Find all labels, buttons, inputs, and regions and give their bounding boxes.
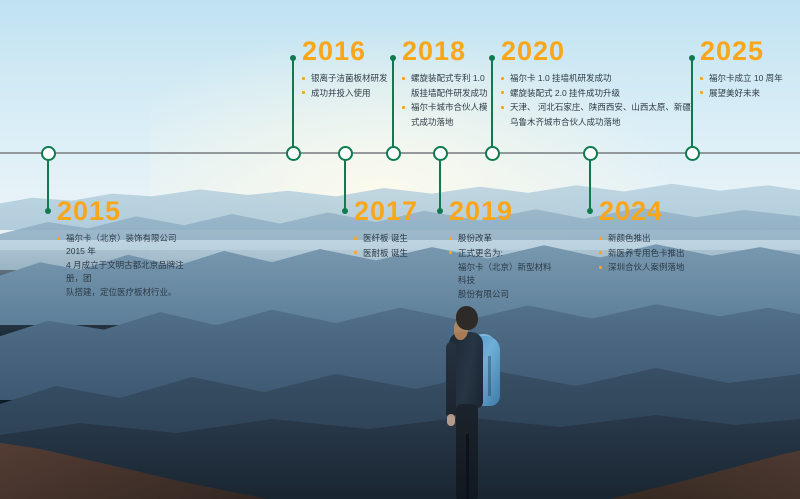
event-2019[interactable]: 2019 股份改革 正式更名为: 福尔卡（北京）新型材料科技 股份有限公司: [449, 198, 559, 303]
stem-2015: [47, 160, 49, 212]
node-2018[interactable]: [386, 146, 401, 161]
event-2017[interactable]: 2017 医纤板 诞生 医耐板 诞生: [354, 198, 434, 261]
event-2018[interactable]: 2018 螺旋装配式专利 1.0 版挂墙配件研发成功 福尔卡城市合伙人模 式成功…: [402, 38, 494, 130]
stem-2019: [439, 160, 441, 212]
stem-dot-2018: [390, 55, 396, 61]
bullet-cont: 福尔卡（北京）新型材料科技: [449, 261, 559, 286]
bullet-cont: 成功并投入使用: [302, 87, 390, 100]
bullet-item: 螺旋装配式 2.0 挂件成功升级: [501, 87, 691, 100]
stem-dot-2016: [290, 55, 296, 61]
event-year-2025: 2025: [700, 38, 792, 65]
node-2019[interactable]: [433, 146, 448, 161]
bullet-item: 展望美好未来: [700, 87, 792, 100]
event-year-2017: 2017: [354, 198, 434, 225]
bullet-cont: 队搭建，定位医疗板材行业。: [57, 286, 197, 299]
bullet-cont: 4 月成立于文明古都北京品牌注册，团: [57, 259, 197, 284]
event-bullets-2019: 股份改革 正式更名为: 福尔卡（北京）新型材料科技 股份有限公司: [449, 232, 559, 301]
stem-2017: [344, 160, 346, 212]
event-bullets-2016: 银离子洁菌板材研发 成功并投入使用: [302, 72, 390, 99]
bullet-item: 螺旋装配式专利 1.0: [402, 72, 494, 85]
event-bullets-2025: 福尔卡成立 10 周年 展望美好未来: [700, 72, 792, 99]
bullet-cont: 式成功落地: [402, 116, 494, 129]
hiker-leg-gap: [466, 434, 469, 499]
stem-dot-2019: [437, 208, 443, 214]
stem-2025: [691, 58, 693, 148]
backpack-strap-secondary: [488, 356, 491, 396]
event-year-2020: 2020: [501, 38, 691, 65]
bullet-item: 深圳合伙人案例落地: [599, 261, 719, 274]
hiker-figure: [432, 306, 502, 499]
timeline-infographic: 2016 银离子洁菌板材研发 成功并投入使用 2018 螺旋装配式专利 1.0 …: [0, 0, 800, 499]
bullet-item: 新医养专用色卡推出: [599, 247, 719, 260]
bullet-item: 福尔卡成立 10 周年: [700, 72, 792, 85]
hiker-hand: [447, 414, 455, 426]
bullet-item: 医耐板 诞生: [354, 247, 434, 260]
node-2024[interactable]: [583, 146, 598, 161]
event-bullets-2024: 新颜色推出 新医养专用色卡推出 深圳合伙人案例落地: [599, 232, 719, 274]
stem-2024: [589, 160, 591, 212]
node-2025[interactable]: [685, 146, 700, 161]
bullet-cont: 版挂墙配件研发成功: [402, 87, 494, 100]
node-2020[interactable]: [485, 146, 500, 161]
event-2016[interactable]: 2016 银离子洁菌板材研发 成功并投入使用: [302, 38, 390, 101]
stem-2018: [392, 58, 394, 148]
event-bullets-2017: 医纤板 诞生 医耐板 诞生: [354, 232, 434, 259]
event-2025[interactable]: 2025 福尔卡成立 10 周年 展望美好未来: [700, 38, 792, 101]
event-year-2015: 2015: [57, 198, 197, 225]
event-bullets-2015: 福尔卡（北京）装饰有限公司 2015 年 4 月成立于文明古都北京品牌注册，团 …: [57, 232, 197, 299]
bullet-item: 天津、 河北石家庄、陕西西安、山西太原、新疆: [501, 101, 691, 114]
event-2015[interactable]: 2015 福尔卡（北京）装饰有限公司 2015 年 4 月成立于文明古都北京品牌…: [57, 198, 197, 301]
hiker-head: [456, 306, 478, 330]
event-year-2024: 2024: [599, 198, 719, 225]
stem-dot-2017: [342, 208, 348, 214]
stem-dot-2015: [45, 208, 51, 214]
hiker-arm: [446, 342, 456, 418]
event-year-2019: 2019: [449, 198, 559, 225]
bullet-item: 正式更名为:: [449, 247, 559, 260]
bullet-item: 福尔卡 1.0 挂墙机研发成功: [501, 72, 691, 85]
bullet-item: 福尔卡（北京）装饰有限公司 2015 年: [57, 232, 197, 257]
event-bullets-2018: 螺旋装配式专利 1.0 版挂墙配件研发成功 福尔卡城市合伙人模 式成功落地: [402, 72, 494, 128]
event-2024[interactable]: 2024 新颜色推出 新医养专用色卡推出 深圳合伙人案例落地: [599, 198, 719, 276]
bullet-cont: 股份有限公司: [449, 288, 559, 301]
bullet-item: 医纤板 诞生: [354, 232, 434, 245]
bullet-item: 福尔卡城市合伙人模: [402, 101, 494, 114]
event-year-2018: 2018: [402, 38, 494, 65]
bullet-item: 银离子洁菌板材研发: [302, 72, 390, 85]
stem-2016: [292, 58, 294, 148]
stem-dot-2024: [587, 208, 593, 214]
bullet-item: 股份改革: [449, 232, 559, 245]
node-2016[interactable]: [286, 146, 301, 161]
event-bullets-2020: 福尔卡 1.0 挂墙机研发成功 螺旋装配式 2.0 挂件成功升级 天津、 河北石…: [501, 72, 691, 128]
event-2020[interactable]: 2020 福尔卡 1.0 挂墙机研发成功 螺旋装配式 2.0 挂件成功升级 天津…: [501, 38, 691, 130]
bullet-cont: 乌鲁木齐城市合伙人成功落地: [501, 116, 691, 129]
node-2017[interactable]: [338, 146, 353, 161]
event-year-2016: 2016: [302, 38, 390, 65]
node-2015[interactable]: [41, 146, 56, 161]
bullet-item: 新颜色推出: [599, 232, 719, 245]
